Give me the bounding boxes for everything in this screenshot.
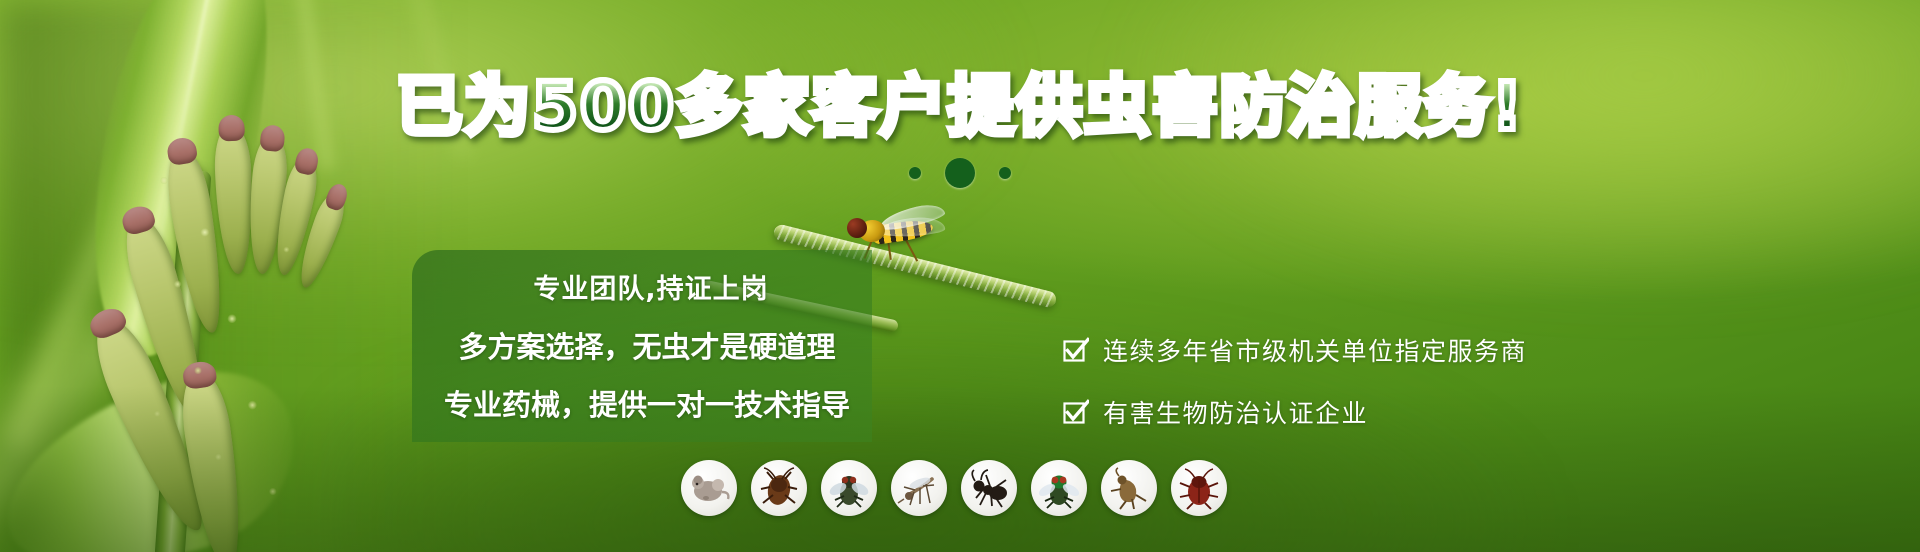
mosquito-icon[interactable] [891, 460, 947, 516]
flower-spike [213, 123, 254, 274]
headline-container: 已为500多家客户提供虫害防治服务! [0, 74, 1920, 140]
feature-panel-text: 专业团队,持证上岗 多方案选择，无虫才是硬道理 专业药械，提供一对一技术指导 [412, 250, 882, 442]
dot-small-left-icon [909, 167, 921, 179]
ant-icon[interactable] [961, 460, 1017, 516]
credential-list: 连续多年省市级机关单位指定服务商 有害生物防治认证企业 [1063, 332, 1527, 456]
decorative-dots [0, 158, 1920, 188]
checkbox-checked-icon [1063, 399, 1089, 425]
credential-label: 有害生物防治认证企业 [1103, 394, 1368, 430]
pest-control-banner: 已为500多家客户提供虫害防治服务! 专业团队,持证上岗 多方案选择，无虫才是硬… [0, 0, 1920, 552]
feature-line-3: 专业药械，提供一对一技术指导 [412, 382, 882, 424]
list-item: 有害生物防治认证企业 [1063, 394, 1527, 430]
list-item: 连续多年省市级机关单位指定服务商 [1063, 332, 1527, 368]
dot-small-right-icon [999, 167, 1011, 179]
cockroach-icon[interactable] [751, 460, 807, 516]
dot-large-center-icon [945, 158, 975, 188]
fly-head [847, 218, 867, 238]
feature-line-1: 专业团队,持证上岗 [420, 267, 882, 306]
housefly-icon[interactable] [821, 460, 877, 516]
background-bokeh-right [1114, 0, 1920, 298]
page-title: 已为500多家客户提供虫害防治服务! [396, 74, 1524, 140]
flea-icon[interactable] [1101, 460, 1157, 516]
blowfly-icon[interactable] [1031, 460, 1087, 516]
mouse-icon[interactable] [681, 460, 737, 516]
feature-line-2: 多方案选择，无虫才是硬道理 [412, 324, 882, 366]
checkbox-checked-icon [1063, 337, 1089, 363]
bedbug-icon[interactable] [1171, 460, 1227, 516]
pest-icon-row [681, 460, 1227, 516]
credential-label: 连续多年省市级机关单位指定服务商 [1103, 332, 1527, 368]
